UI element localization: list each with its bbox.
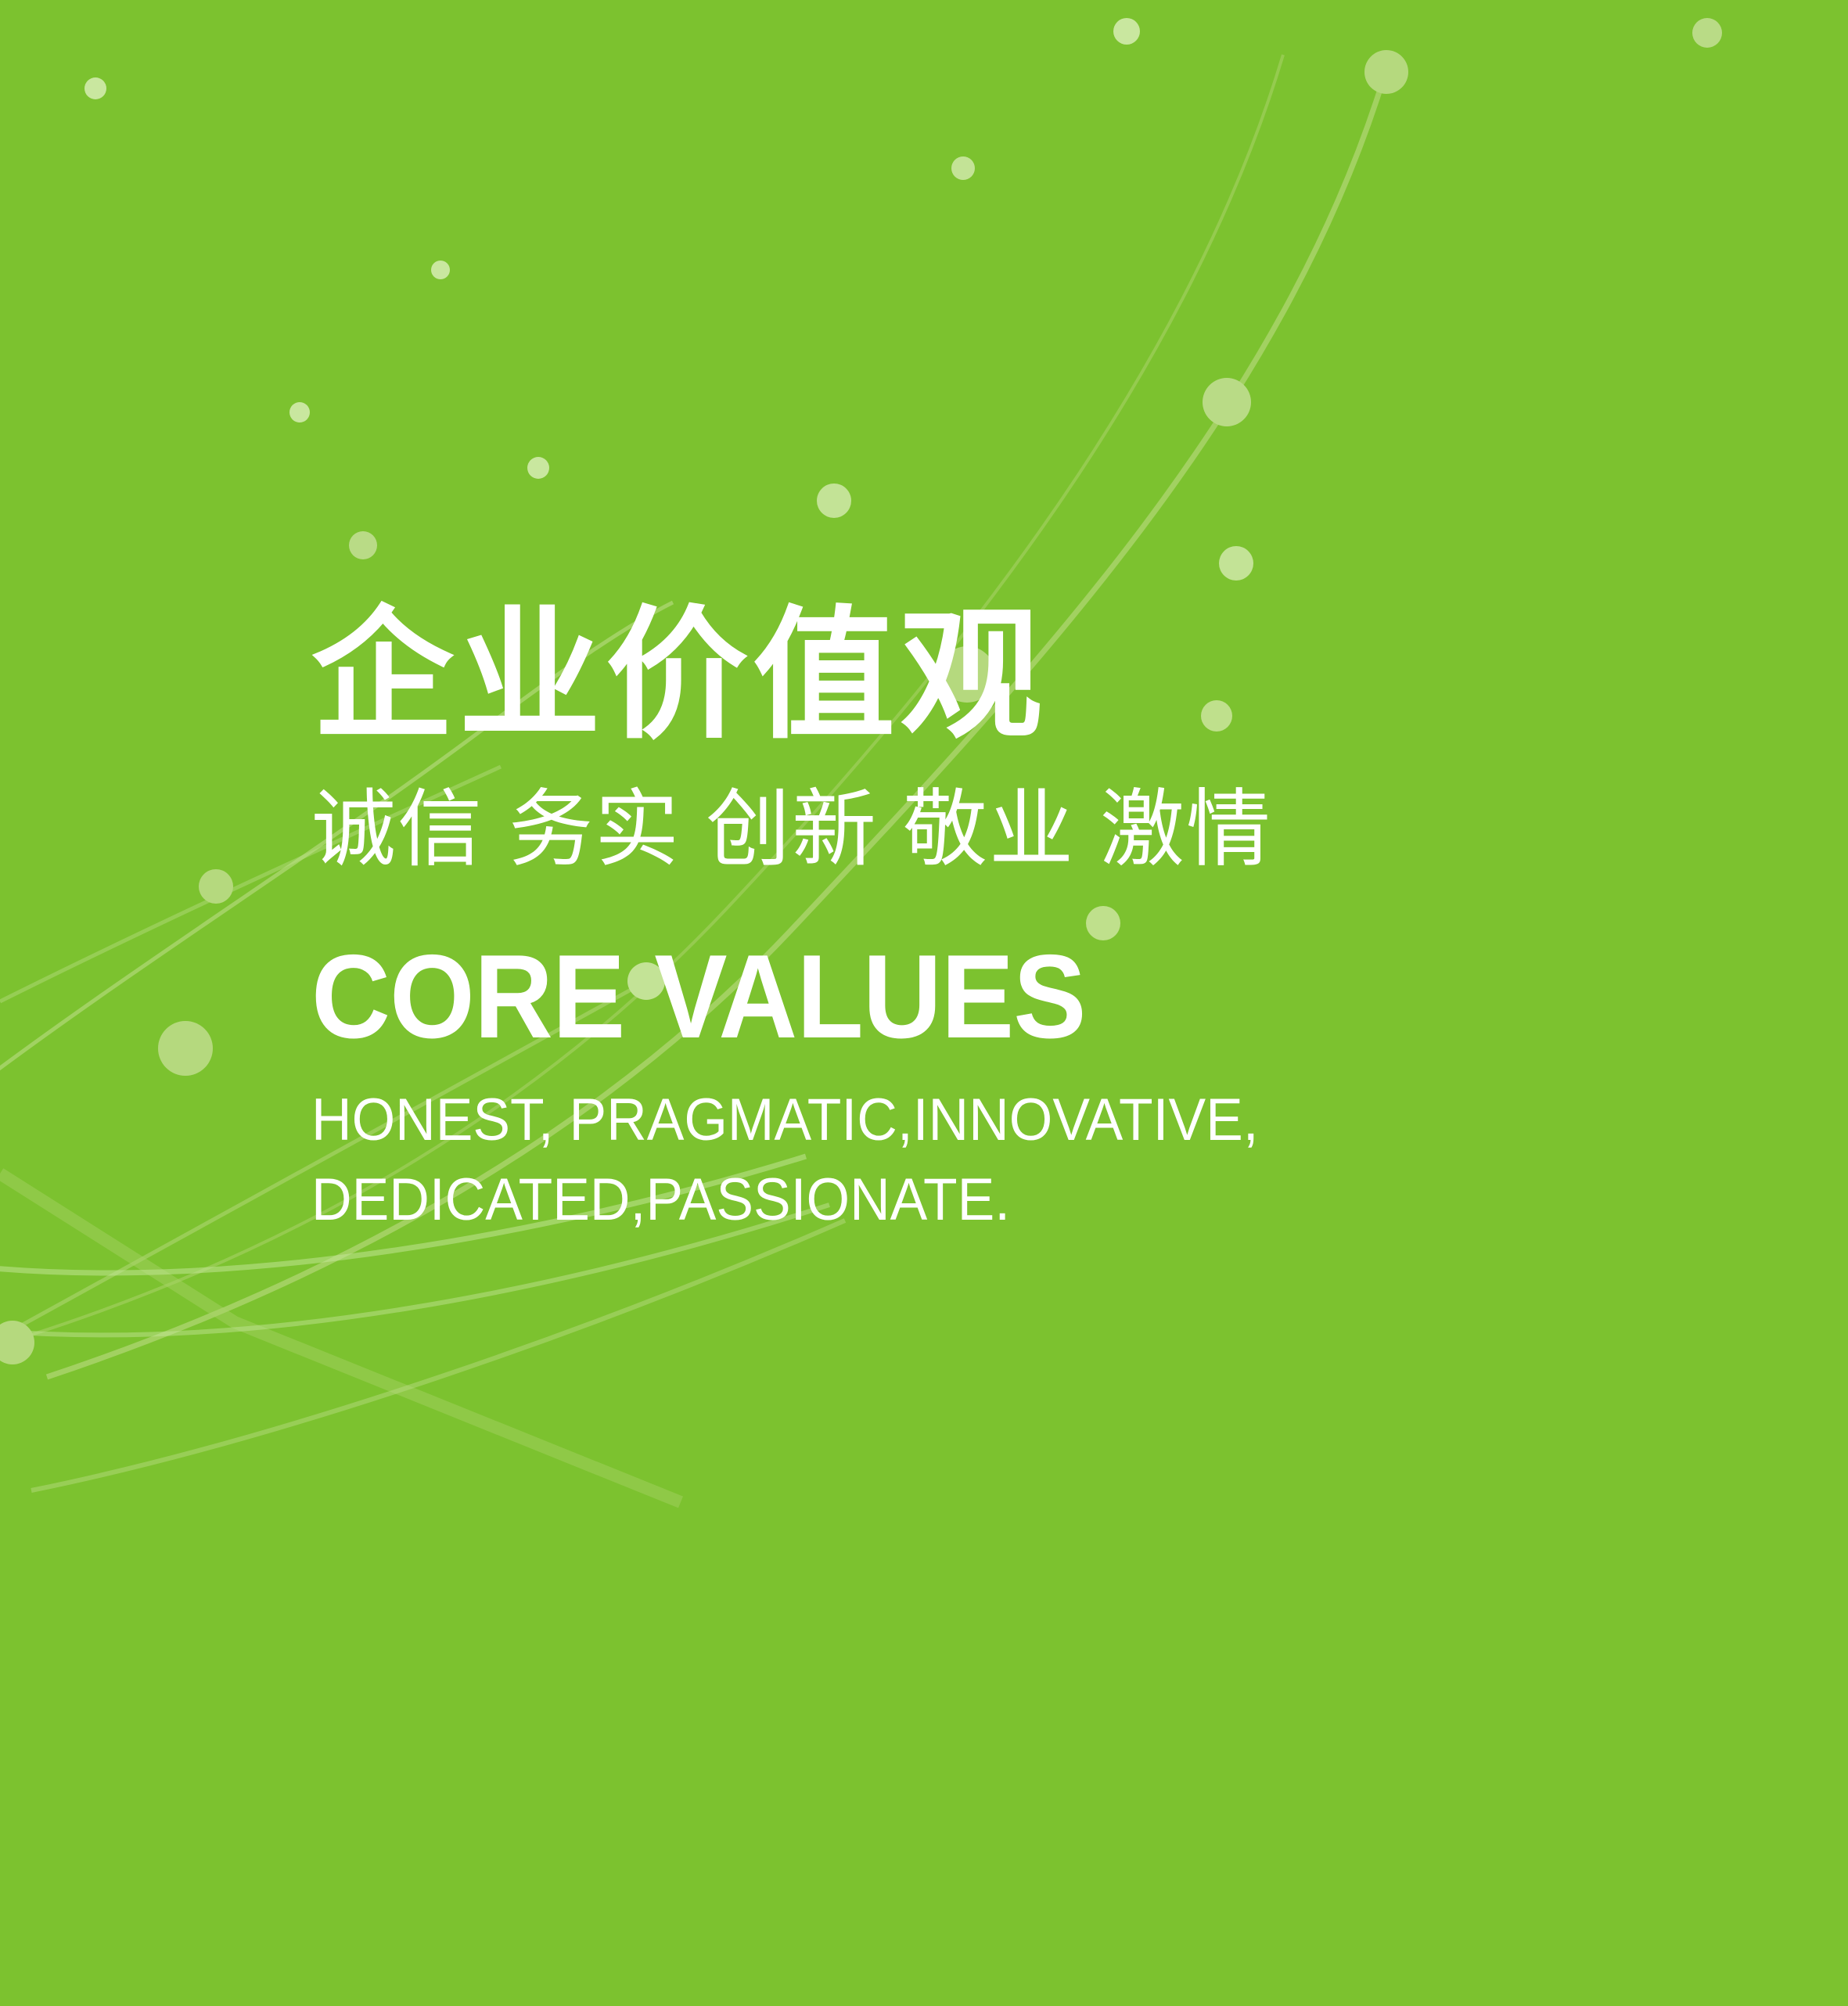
- page-title-chinese: 企业价值观: [311, 595, 1688, 757]
- description-line-2: DEDICATED,PASSIONATE.: [311, 1160, 1605, 1240]
- node-dot: [951, 156, 975, 180]
- node-dot: [817, 484, 851, 518]
- node-dot: [1364, 50, 1408, 94]
- node-dot: [1113, 18, 1140, 45]
- node-dot: [1692, 18, 1722, 48]
- node-dot: [158, 1021, 213, 1076]
- page-title-english: CORE VALUES: [311, 934, 1578, 1060]
- node-dot: [0, 1321, 34, 1364]
- node-dot: [349, 531, 377, 559]
- node-dot: [1203, 378, 1251, 426]
- description-line-1: HONEST, PRAGMATIC,INNOVATIVE,: [311, 1080, 1605, 1160]
- node-dot: [1219, 546, 1253, 581]
- subtitle-chinese: 诚信 务实 创新 敬业 激情: [311, 774, 1688, 886]
- node-dot: [84, 77, 106, 99]
- node-dot: [289, 402, 310, 422]
- description-english: HONEST, PRAGMATIC,INNOVATIVE, DEDICATED,…: [311, 1080, 1605, 1240]
- node-dot: [199, 869, 233, 904]
- core-values-poster: 企业价值观 诚信 务实 创新 敬业 激情 CORE VALUES HONEST,…: [0, 0, 1848, 2006]
- line-spoke-4: [31, 1220, 845, 1490]
- node-dot: [527, 457, 549, 479]
- node-dot: [431, 261, 450, 279]
- poster-text-block: 企业价值观 诚信 务实 创新 敬业 激情 CORE VALUES HONEST,…: [311, 595, 1688, 1240]
